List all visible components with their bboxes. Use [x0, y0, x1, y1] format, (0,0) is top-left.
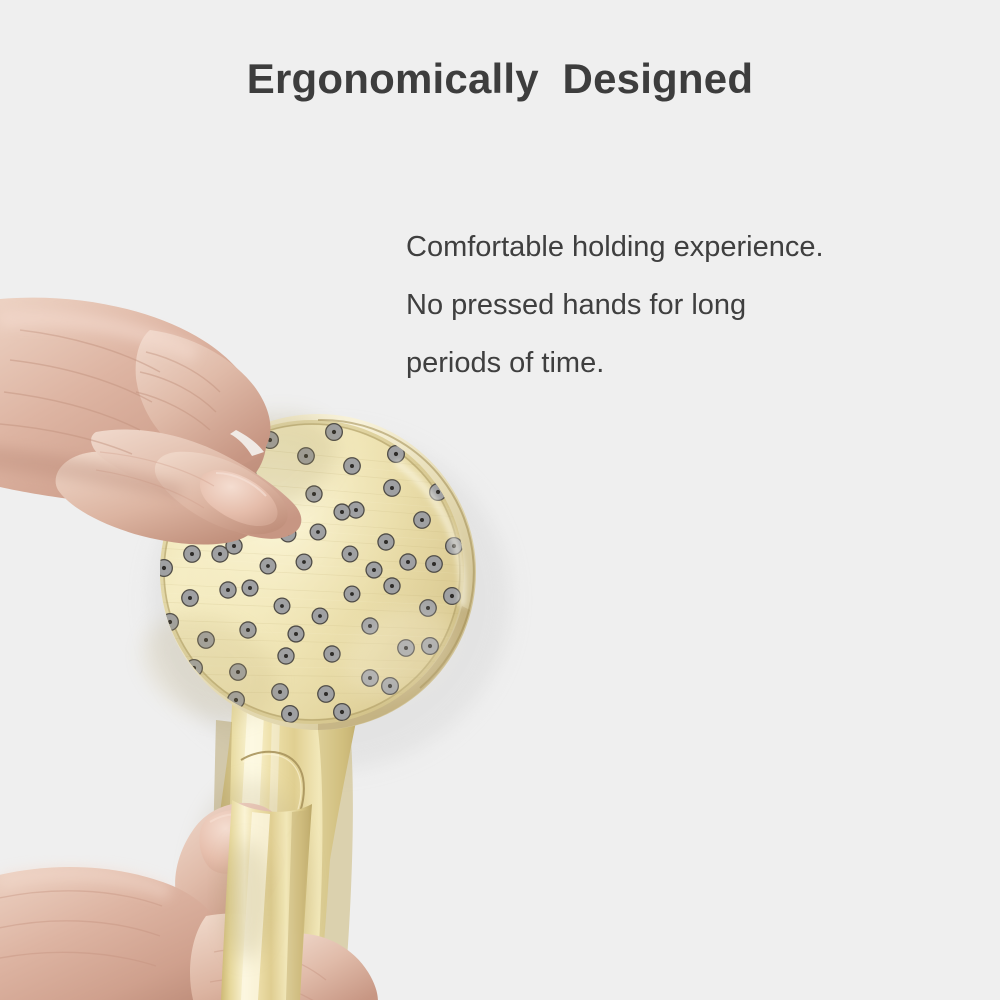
- description-line-3: periods of time.: [406, 334, 946, 392]
- description-line-1: Comfortable holding experience.: [406, 218, 946, 276]
- product-feature-card: Ergonomically Designed Comfortable holdi…: [0, 0, 1000, 1000]
- description-line-2: No pressed hands for long: [406, 276, 946, 334]
- description-text: Comfortable holding experience. No press…: [406, 218, 946, 392]
- page-title: Ergonomically Designed: [0, 55, 1000, 103]
- product-photo: [0, 0, 1000, 1000]
